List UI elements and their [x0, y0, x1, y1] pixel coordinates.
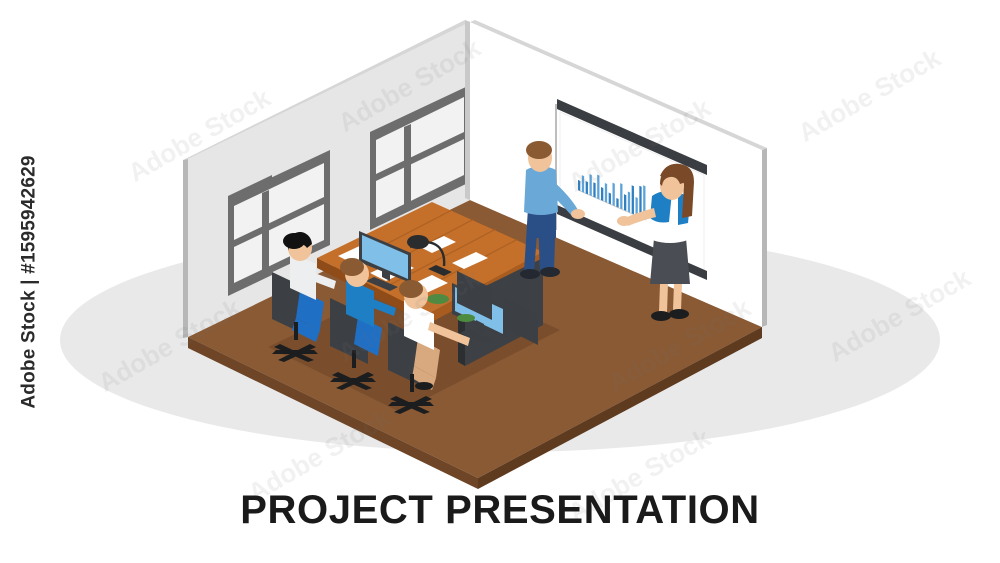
chart-bar	[624, 194, 626, 211]
chart-bar	[605, 183, 607, 203]
presenter-female-hand	[617, 216, 631, 226]
attendee-3-shoe	[415, 382, 433, 390]
presenter-female-skirt	[650, 238, 690, 284]
chart-bar	[578, 180, 580, 191]
isometric-office-scene	[0, 0, 1000, 563]
presenter-female-shoe-right	[669, 309, 689, 319]
chart-bar	[586, 181, 588, 194]
lamp-head	[407, 235, 429, 249]
presenter-male-hair	[526, 141, 552, 159]
presenter-female-shoe-left	[651, 311, 671, 321]
presenter-male-shoe-right	[540, 267, 560, 277]
chart-bar	[632, 185, 634, 214]
chart-bar	[620, 183, 622, 209]
presenter-male-hand	[571, 209, 585, 219]
presenter-male-shoe-left	[520, 269, 540, 279]
page-title: PROJECT PRESENTATION	[0, 488, 1000, 533]
chart-bar	[613, 183, 615, 206]
chart-bar	[582, 175, 584, 193]
illustration-canvas: Adobe Stock Adobe Stock Adobe Stock Adob…	[0, 0, 1000, 563]
chart-bar	[601, 187, 603, 201]
attendee-3-hair	[399, 280, 423, 298]
attendee-2-hair	[340, 258, 364, 276]
chart-bar	[597, 175, 599, 200]
chart-bar	[628, 192, 630, 213]
chart-bar	[590, 174, 592, 196]
chart-bar	[593, 182, 595, 197]
chart-bar	[616, 198, 618, 208]
chart-bar	[609, 193, 611, 205]
